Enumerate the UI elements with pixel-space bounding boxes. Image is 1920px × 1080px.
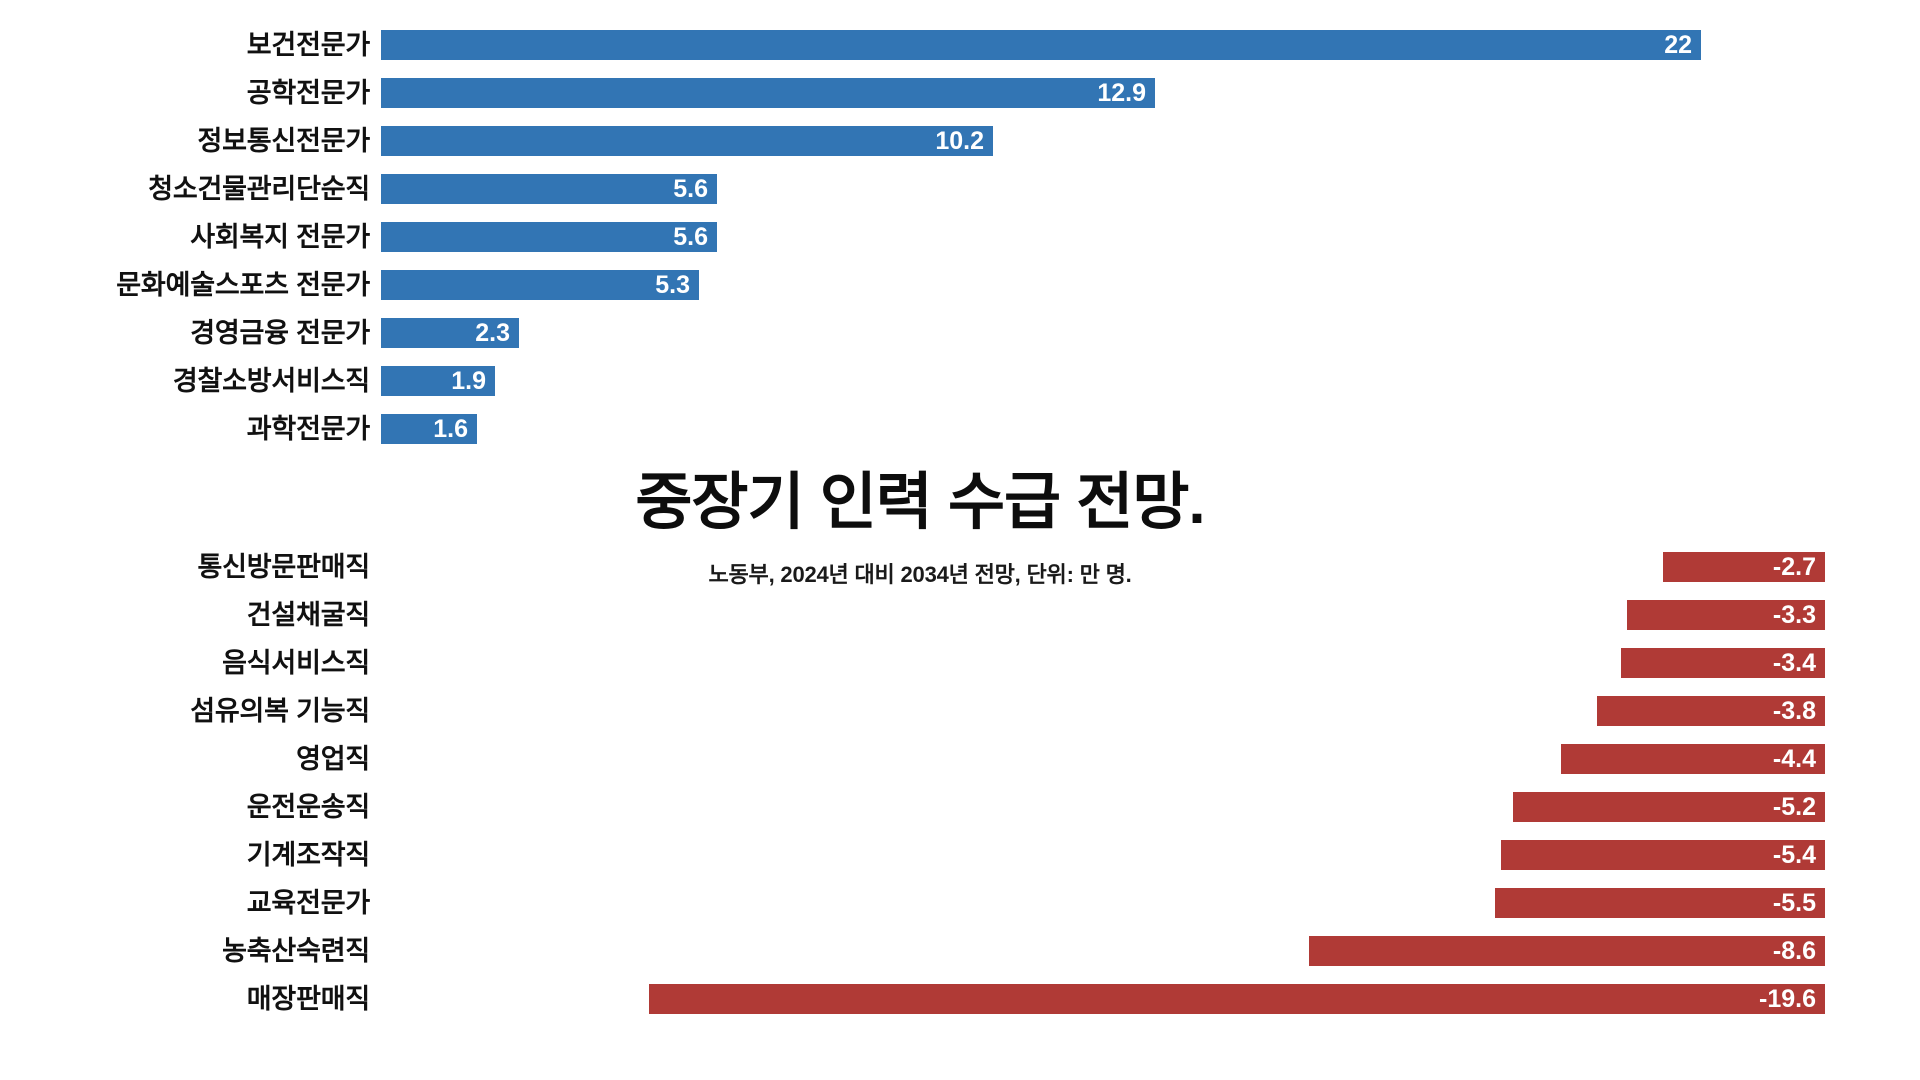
bar-wrapper: 12.9 [381,78,1155,108]
bar-wrapper: 1.6 [381,414,477,444]
bar-negative[interactable]: -3.4 [1621,648,1825,678]
category-label: 경영금융 전문가 [0,314,370,352]
bar-wrapper: 5.6 [381,174,717,204]
bar-negative[interactable]: -5.5 [1495,888,1825,918]
category-label: 농축산숙련직 [0,932,370,970]
bar-wrapper: 2.3 [381,318,519,348]
bar-row[interactable]: 보건전문가22 [0,26,1920,64]
bar-row[interactable]: 경영금융 전문가2.3 [0,314,1920,352]
bar-row[interactable]: 사회복지 전문가5.6 [0,218,1920,256]
bar-value-label: 5.3 [655,270,690,300]
bar-positive[interactable]: 12.9 [381,78,1155,108]
category-label: 교육전문가 [0,884,370,922]
category-label: 건설채굴직 [0,596,370,634]
bar-positive[interactable]: 1.6 [381,414,477,444]
bar-value-label: -19.6 [1759,984,1816,1014]
bar-negative[interactable]: -3.3 [1627,600,1825,630]
bar-wrapper: -4.4 [1561,744,1825,774]
category-label: 기계조작직 [0,836,370,874]
bar-value-label: 2.3 [475,318,510,348]
bar-row[interactable]: 섬유의복 기능직-3.8 [0,692,1920,730]
bar-value-label: -5.2 [1773,792,1816,822]
bar-value-label: -5.4 [1773,840,1816,870]
bar-value-label: -3.8 [1773,696,1816,726]
bar-wrapper: 5.6 [381,222,717,252]
bar-wrapper: 1.9 [381,366,495,396]
bar-row[interactable]: 문화예술스포츠 전문가5.3 [0,266,1920,304]
category-label: 음식서비스직 [0,644,370,682]
bar-value-label: 22 [1664,30,1692,60]
bar-wrapper: -5.5 [1495,888,1825,918]
bar-positive[interactable]: 10.2 [381,126,993,156]
bar-wrapper: -3.3 [1627,600,1825,630]
bar-row[interactable]: 건설채굴직-3.3 [0,596,1920,634]
bar-chart: 보건전문가22공학전문가12.9정보통신전문가10.2청소건물관리단순직5.6사… [0,0,1920,1080]
bar-row[interactable]: 청소건물관리단순직5.6 [0,170,1920,208]
category-label: 과학전문가 [0,410,370,448]
bar-negative[interactable]: -19.6 [649,984,1825,1014]
bar-positive[interactable]: 5.6 [381,222,717,252]
bar-wrapper: -2.7 [1663,552,1825,582]
category-label: 문화예술스포츠 전문가 [0,266,370,304]
bar-row[interactable]: 운전운송직-5.2 [0,788,1920,826]
bar-wrapper: -8.6 [1309,936,1825,966]
bar-value-label: -5.5 [1773,888,1816,918]
bar-row[interactable]: 통신방문판매직-2.7 [0,548,1920,586]
bar-row[interactable]: 정보통신전문가10.2 [0,122,1920,160]
bar-negative[interactable]: -4.4 [1561,744,1825,774]
category-label: 통신방문판매직 [0,548,370,586]
bar-wrapper: 5.3 [381,270,699,300]
bar-row[interactable]: 교육전문가-5.5 [0,884,1920,922]
bar-positive[interactable]: 2.3 [381,318,519,348]
bar-value-label: 12.9 [1097,78,1146,108]
bar-value-label: -3.4 [1773,648,1816,678]
category-label: 정보통신전문가 [0,122,370,160]
bar-row[interactable]: 공학전문가12.9 [0,74,1920,112]
category-label: 운전운송직 [0,788,370,826]
bar-row[interactable]: 매장판매직-19.6 [0,980,1920,1018]
category-label: 경찰소방서비스직 [0,362,370,400]
bar-value-label: -2.7 [1773,552,1816,582]
bar-value-label: 5.6 [673,174,708,204]
bar-wrapper: 22 [381,30,1701,60]
bar-value-label: -3.3 [1773,600,1816,630]
chart-title: 중장기 인력 수급 전망. [380,470,1460,535]
category-label: 청소건물관리단순직 [0,170,370,208]
bar-row[interactable]: 영업직-4.4 [0,740,1920,778]
bar-row[interactable]: 과학전문가1.6 [0,410,1920,448]
bar-value-label: 1.6 [433,414,468,444]
bar-wrapper: -3.8 [1597,696,1825,726]
bar-value-label: 1.9 [451,366,486,396]
bar-wrapper: 10.2 [381,126,993,156]
bar-negative[interactable]: -5.4 [1501,840,1825,870]
bar-wrapper: -3.4 [1621,648,1825,678]
bar-positive[interactable]: 22 [381,30,1701,60]
bar-value-label: 5.6 [673,222,708,252]
bar-row[interactable]: 농축산숙련직-8.6 [0,932,1920,970]
bar-negative[interactable]: -3.8 [1597,696,1825,726]
bar-negative[interactable]: -5.2 [1513,792,1825,822]
bar-wrapper: -5.4 [1501,840,1825,870]
category-label: 보건전문가 [0,26,370,64]
bar-value-label: -4.4 [1773,744,1816,774]
bar-wrapper: -19.6 [649,984,1825,1014]
bar-row[interactable]: 음식서비스직-3.4 [0,644,1920,682]
bar-positive[interactable]: 1.9 [381,366,495,396]
bar-value-label: -8.6 [1773,936,1816,966]
bar-positive[interactable]: 5.6 [381,174,717,204]
bar-negative[interactable]: -8.6 [1309,936,1825,966]
bar-row[interactable]: 기계조작직-5.4 [0,836,1920,874]
bar-negative[interactable]: -2.7 [1663,552,1825,582]
bar-wrapper: -5.2 [1513,792,1825,822]
category-label: 영업직 [0,740,370,778]
category-label: 사회복지 전문가 [0,218,370,256]
category-label: 공학전문가 [0,74,370,112]
bar-positive[interactable]: 5.3 [381,270,699,300]
category-label: 매장판매직 [0,980,370,1018]
bar-row[interactable]: 경찰소방서비스직1.9 [0,362,1920,400]
bar-value-label: 10.2 [935,126,984,156]
category-label: 섬유의복 기능직 [0,692,370,730]
